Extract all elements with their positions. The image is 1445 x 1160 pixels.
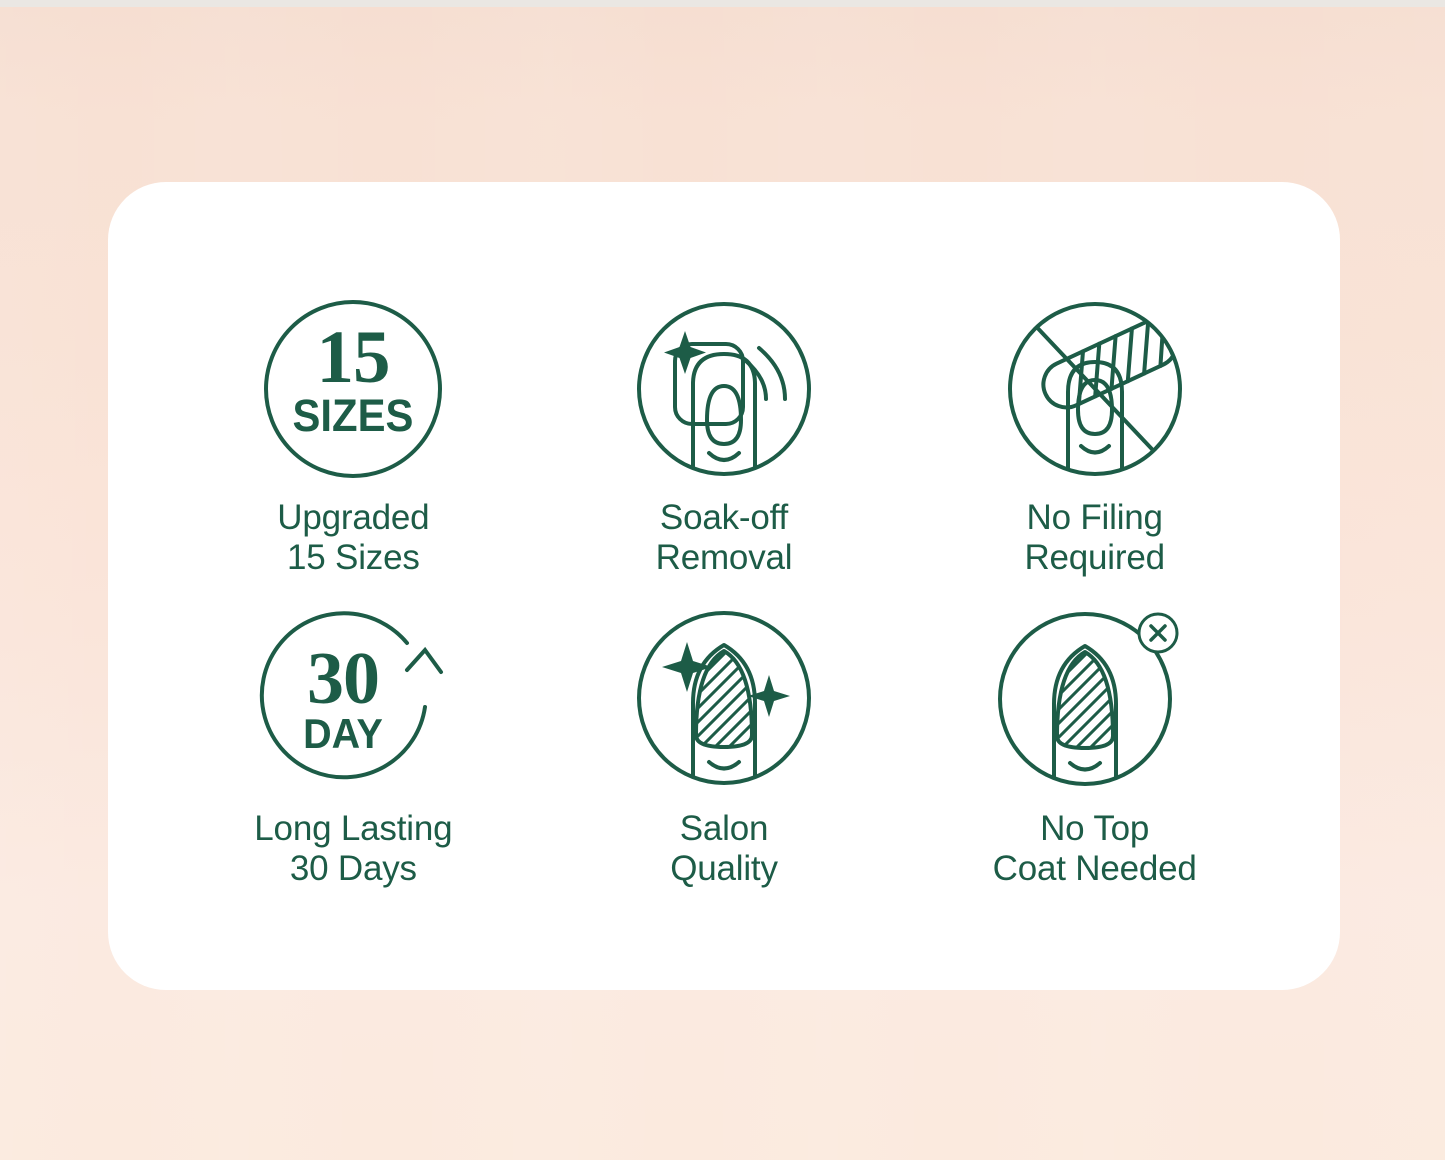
feature-caption: Salon Quality [670,809,778,889]
nail-file-crossed-out-icon [1000,294,1190,484]
thirty-day-arrow-icon: 30 DAY [258,603,448,793]
feature-soak-off-removal: Soak-off Removal [539,294,910,603]
feature-salon-quality: Salon Quality [539,603,910,912]
nail-no-topcoat-icon [1000,603,1190,793]
feature-caption: Soak-off Removal [656,498,793,578]
fifteen-sizes-badge-icon: 15 SIZES [258,294,448,484]
badge-word: DAY [303,710,383,757]
feature-card: 15 SIZES Upgraded 15 Sizes [108,182,1340,990]
feature-caption: Long Lasting 30 Days [254,809,452,889]
cotton-pad-finger-icon [629,294,819,484]
sparkle-large-icon [662,642,712,692]
sparkle-icon [664,331,706,374]
badge-number: 15 [317,316,390,399]
feature-no-top-coat-needed: No Top Coat Needed [909,603,1280,912]
feature-long-lasting-30-days: 30 DAY Long Lasting 30 Days [168,603,539,912]
feature-badges-panel: 15 SIZES Upgraded 15 Sizes [0,0,1445,1160]
feature-no-filing-required: No Filing Required [909,294,1280,603]
feature-caption: No Filing Required [1024,498,1164,578]
badge-number: 30 [307,638,379,720]
sparkling-nail-icon [629,603,819,793]
feature-caption: No Top Coat Needed [993,809,1197,889]
top-edge-strip [0,0,1445,7]
feature-upgraded-15-sizes: 15 SIZES Upgraded 15 Sizes [168,294,539,603]
badge-word: SIZES [293,392,414,442]
x-mark-badge [1139,614,1177,652]
feature-grid: 15 SIZES Upgraded 15 Sizes [108,182,1340,990]
feature-caption: Upgraded 15 Sizes [277,498,429,578]
